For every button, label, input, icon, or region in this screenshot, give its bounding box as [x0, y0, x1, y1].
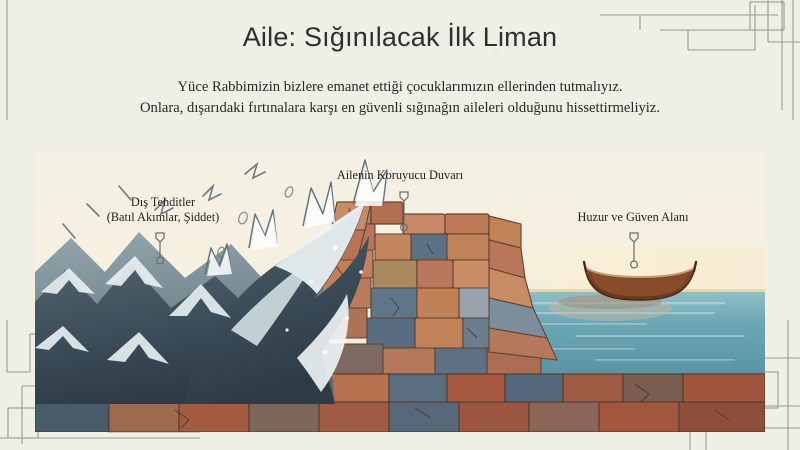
annotation-outer-threats-line2: (Batıl Akımlar, Şiddet): [68, 210, 258, 225]
pin-marker-outer-threats: [152, 230, 168, 271]
annotation-outer-threats-line1: Dış Tehditler: [68, 195, 258, 210]
slide-canvas: Aile: Sığınılacak İlk Liman Yüce Rabbimi…: [0, 0, 800, 450]
annotation-peace-zone-line1: Huzur ve Güven Alanı: [540, 210, 726, 225]
slide-subtitle: Yüce Rabbimizin bizlere emanet ettiği ço…: [60, 77, 740, 119]
subtitle-line-2: Onlara, dışarıdaki fırtınalara karşı en …: [60, 98, 740, 119]
pin-marker-peace-zone: [626, 230, 642, 275]
annotation-family-wall-line1: Ailenin Koruyucu Duvarı: [305, 168, 495, 183]
annotation-peace-zone: Huzur ve Güven Alanı: [540, 210, 726, 225]
annotation-family-wall: Ailenin Koruyucu Duvarı: [305, 168, 495, 183]
slide-title: Aile: Sığınılacak İlk Liman: [0, 22, 800, 53]
pin-marker-family-wall: [396, 189, 412, 238]
subtitle-line-1: Yüce Rabbimizin bizlere emanet ettiği ço…: [60, 77, 740, 98]
annotation-outer-threats: Dış Tehditler (Batıl Akımlar, Şiddet): [68, 195, 258, 225]
